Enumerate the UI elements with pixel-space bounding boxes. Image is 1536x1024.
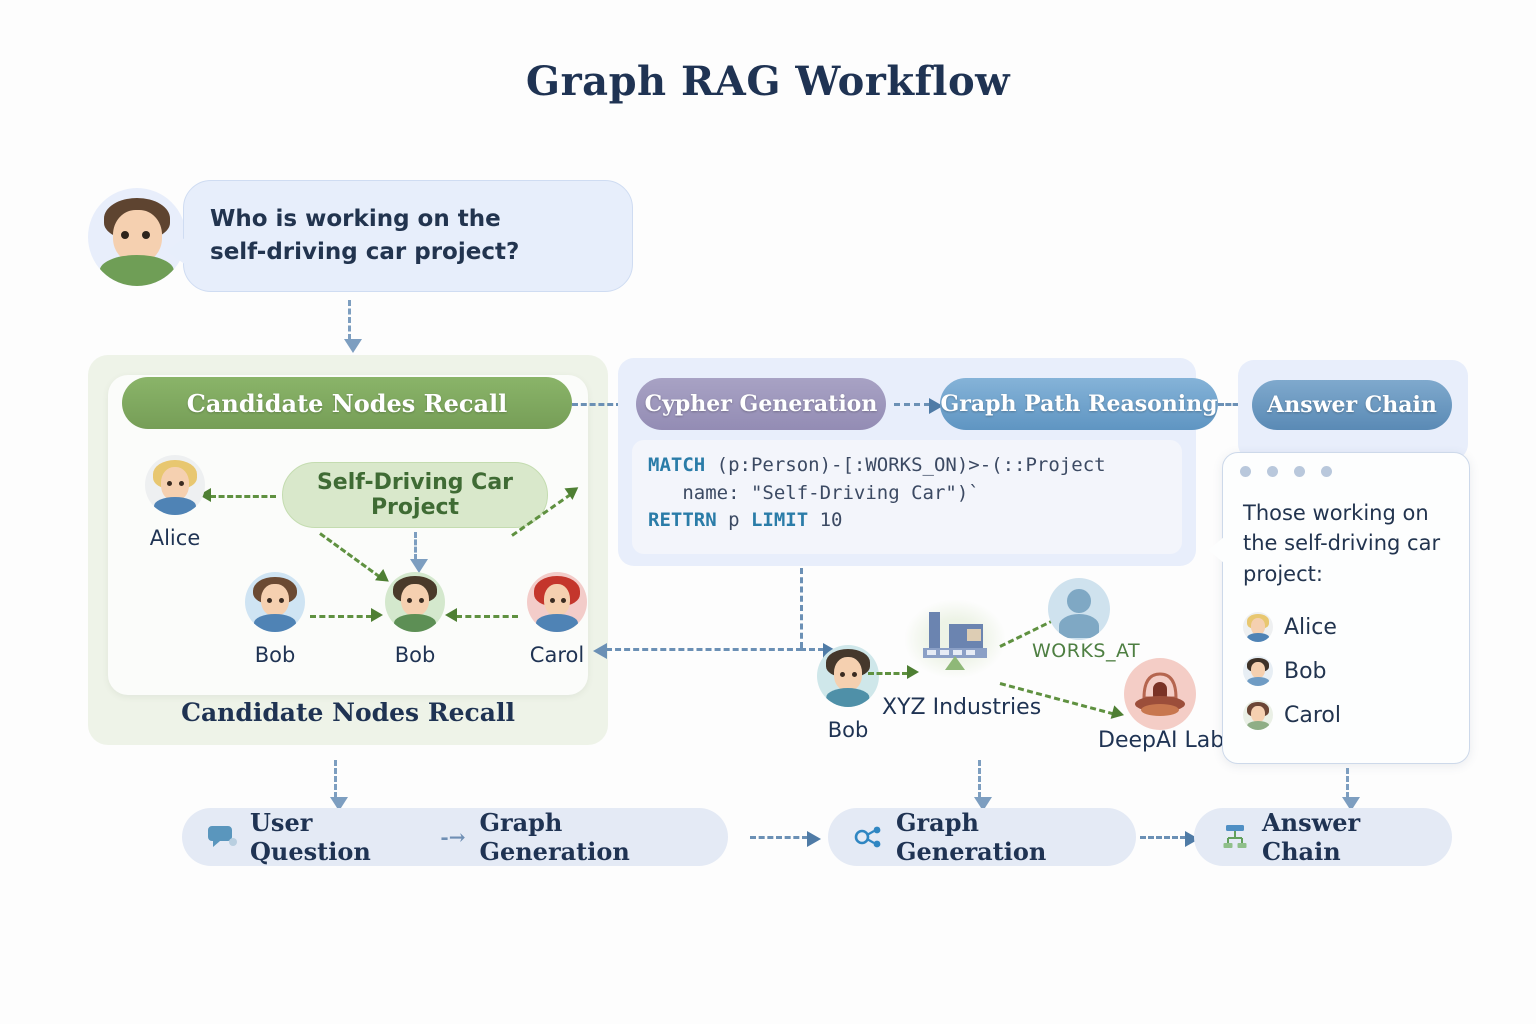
- connector-answer-to-bottom-pill: [1346, 768, 1349, 798]
- project-node-line-2: Project: [317, 495, 513, 520]
- answer-heading-line-2: the self-driving car: [1243, 528, 1455, 558]
- bottom-pill-user-question[interactable]: User Question -→ Graph Generation: [182, 808, 728, 866]
- connector-back-to-recall: [606, 648, 802, 651]
- connector-graph-to-bottom-pill: [978, 760, 981, 798]
- window-dots: [1240, 466, 1332, 477]
- recall-caption: Candidate Nodes Recall: [88, 698, 608, 727]
- candidate-nodes-recall-header: Candidate Nodes Recall: [122, 377, 572, 429]
- graph-person-label: Bob: [795, 718, 901, 742]
- connector-cypher-to-reasoning: [894, 403, 930, 406]
- deepai-labs-icon[interactable]: [1124, 658, 1196, 730]
- project-node[interactable]: Self-Driving Car Project: [282, 462, 548, 528]
- connector-question-to-recall: [348, 300, 351, 340]
- person-node-alice[interactable]: Alice: [120, 455, 230, 550]
- avatar: [1243, 656, 1273, 686]
- graph-generic-person-node[interactable]: [1048, 578, 1110, 640]
- answer-item-label: Carol: [1284, 703, 1341, 728]
- cypher-limit-value: 10: [808, 509, 842, 531]
- window-dot-2: [1267, 466, 1278, 477]
- answer-item-bob: Bob: [1243, 656, 1327, 686]
- bottom-pill-graph-generation[interactable]: Graph Generation: [828, 808, 1136, 866]
- relation-label-works-at: WORKS_AT: [1032, 640, 1140, 662]
- bottom-pill-label-a: Answer Chain: [1262, 808, 1426, 866]
- factory-icon: [905, 600, 1005, 678]
- cypher-generation-pill[interactable]: Cypher Generation: [636, 378, 886, 430]
- person-node-bob-left[interactable]: Bob: [220, 572, 330, 667]
- cypher-line-3-mid: p: [717, 509, 751, 531]
- project-node-line-1: Self-Driving Car: [317, 470, 513, 495]
- connector-recall-to-cypher: [572, 403, 622, 406]
- avatar: [1243, 612, 1273, 642]
- question-line-2: self-driving car project?: [210, 236, 519, 269]
- avatar: [817, 645, 879, 707]
- hierarchy-icon: [1220, 822, 1250, 852]
- cypher-line-1-rest: (p:Person)-[:WORKS_ON)>-(::Project: [705, 454, 1105, 476]
- speech-bubble-icon: [208, 822, 238, 852]
- lab-label: DeepAI Labs: [1098, 728, 1236, 753]
- connector-pill1-to-pill2: [750, 836, 808, 839]
- connector-recall-to-bottom-pill: [334, 760, 337, 798]
- question-line-1: Who is working on the: [210, 203, 519, 236]
- bottom-pill-answer-chain[interactable]: Answer Chain: [1194, 808, 1452, 866]
- avatar: [245, 572, 305, 632]
- window-dot-4: [1321, 466, 1332, 477]
- diagram-canvas: Graph RAG Workflow Who is working on the…: [0, 0, 1536, 1024]
- user-question-bubble: Who is working on the self-driving car p…: [183, 180, 633, 292]
- answer-item-label: Alice: [1284, 615, 1337, 640]
- answer-item-alice: Alice: [1243, 612, 1337, 642]
- window-dot-1: [1240, 466, 1251, 477]
- bottom-pill-separator: -→: [438, 825, 467, 849]
- window-dot-3: [1294, 466, 1305, 477]
- answer-heading-line-3: project:: [1243, 559, 1455, 589]
- cypher-line-2: name: "Self-Driving Car")`: [648, 482, 980, 504]
- answer-item-carol: Carol: [1243, 700, 1341, 730]
- cypher-code-block[interactable]: MATCH (p:Person)-[:WORKS_ON)>-(::Project…: [632, 440, 1182, 554]
- avatar: [145, 455, 205, 515]
- avatar: [527, 572, 587, 632]
- connector-pill2-to-pill3: [1140, 836, 1186, 839]
- answer-heading-line-1: Those working on: [1243, 498, 1455, 528]
- person-label: Alice: [120, 526, 230, 550]
- cypher-keyword-return: RETTRN: [648, 509, 717, 531]
- bottom-pill-label-a: Graph Generation: [896, 808, 1110, 866]
- person-label: Bob: [360, 643, 470, 667]
- person-label: Bob: [220, 643, 330, 667]
- graph-person-node-bob[interactable]: Bob: [795, 645, 901, 742]
- graph-nodes-icon: [854, 822, 884, 852]
- avatar: [1243, 700, 1273, 730]
- graph-path-reasoning-pill[interactable]: Graph Path Reasoning: [940, 378, 1218, 430]
- answer-item-label: Bob: [1284, 659, 1327, 684]
- answer-heading: Those working on the self-driving car pr…: [1243, 498, 1455, 589]
- bottom-pill-label-a: User Question: [250, 808, 426, 866]
- cypher-keyword-match: MATCH: [648, 454, 705, 476]
- company-label: XYZ Industries: [882, 695, 1041, 720]
- avatar: [385, 572, 445, 632]
- edge-project-to-bob-center: [414, 532, 417, 560]
- cypher-keyword-limit: LIMIT: [751, 509, 808, 531]
- answer-chain-pill[interactable]: Answer Chain: [1252, 380, 1452, 430]
- connector-cypher-down: [800, 568, 803, 648]
- bottom-pill-label-b: Graph Generation: [479, 808, 702, 866]
- page-title: Graph RAG Workflow: [0, 58, 1536, 105]
